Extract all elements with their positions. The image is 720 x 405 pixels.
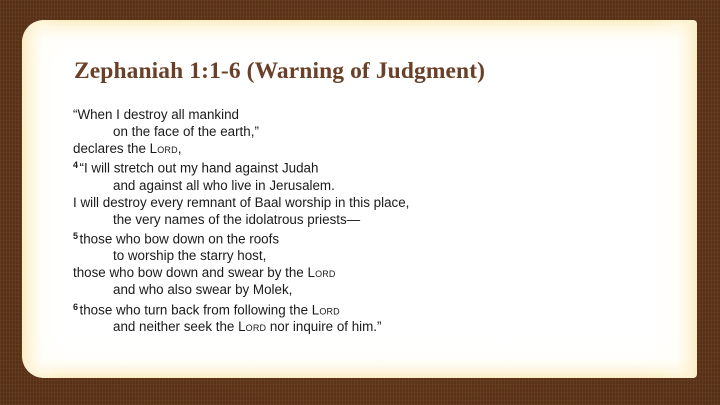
verse-text: and neither seek the — [113, 319, 238, 334]
verse-text: those who bow down and swear by the — [73, 265, 307, 280]
verse-text: on the face of the earth,” — [113, 124, 259, 139]
verse-line: on the face of the earth,” — [73, 123, 673, 140]
verse-text-tail: , — [178, 141, 182, 156]
verse-line: the very names of the idolatrous priests… — [73, 211, 673, 228]
verse-line: to worship the starry host, — [73, 247, 673, 264]
verse-number: 5 — [73, 231, 78, 241]
verse-text: I will destroy every remnant of Baal wor… — [73, 195, 409, 210]
verse-text: to worship the starry host, — [113, 248, 266, 263]
slide: Zephaniah 1:1-6 (Warning of Judgment) “W… — [0, 0, 720, 405]
divine-name-smallcaps: Lord — [312, 302, 340, 317]
verse-text-tail: nor inquire of him.” — [266, 319, 381, 334]
verse-line: declares the Lord, — [73, 140, 673, 157]
verse-line: 6those who turn back from following the … — [73, 299, 673, 319]
page-title: Zephaniah 1:1-6 (Warning of Judgment) — [74, 58, 485, 85]
verse-line: and against all who live in Jerusalem. — [73, 177, 673, 194]
verse-line: I will destroy every remnant of Baal wor… — [73, 194, 673, 211]
slide-content: Zephaniah 1:1-6 (Warning of Judgment) “W… — [22, 20, 697, 378]
verse-line: 4“I will stretch out my hand against Jud… — [73, 157, 673, 177]
verse-line: and neither seek the Lord nor inquire of… — [73, 318, 673, 335]
verse-line: and who also swear by Molek, — [73, 281, 673, 298]
verse-text: and against all who live in Jerusalem. — [113, 178, 335, 193]
verse-number: 6 — [73, 302, 78, 312]
verse-text: “I will stretch out my hand against Juda… — [80, 161, 319, 176]
verse-text: declares the — [73, 141, 150, 156]
slide-content-panel: Zephaniah 1:1-6 (Warning of Judgment) “W… — [22, 20, 697, 378]
verse-text: those who bow down on the roofs — [80, 231, 280, 246]
verse-line: those who bow down and swear by the Lord — [73, 264, 673, 281]
verse-line: “When I destroy all mankind — [73, 106, 673, 123]
verse-text: “When I destroy all mankind — [73, 107, 239, 122]
verse-text: those who turn back from following the — [80, 302, 312, 317]
divine-name-smallcaps: Lord — [238, 319, 266, 334]
divine-name-smallcaps: Lord — [150, 141, 178, 156]
verse-line: 5those who bow down on the roofs — [73, 228, 673, 248]
divine-name-smallcaps: Lord — [307, 265, 335, 280]
verse-text: the very names of the idolatrous priests… — [113, 212, 360, 227]
scripture-passage: “When I destroy all mankindon the face o… — [73, 106, 673, 335]
verse-number: 4 — [73, 160, 78, 170]
verse-text: and who also swear by Molek, — [113, 282, 292, 297]
